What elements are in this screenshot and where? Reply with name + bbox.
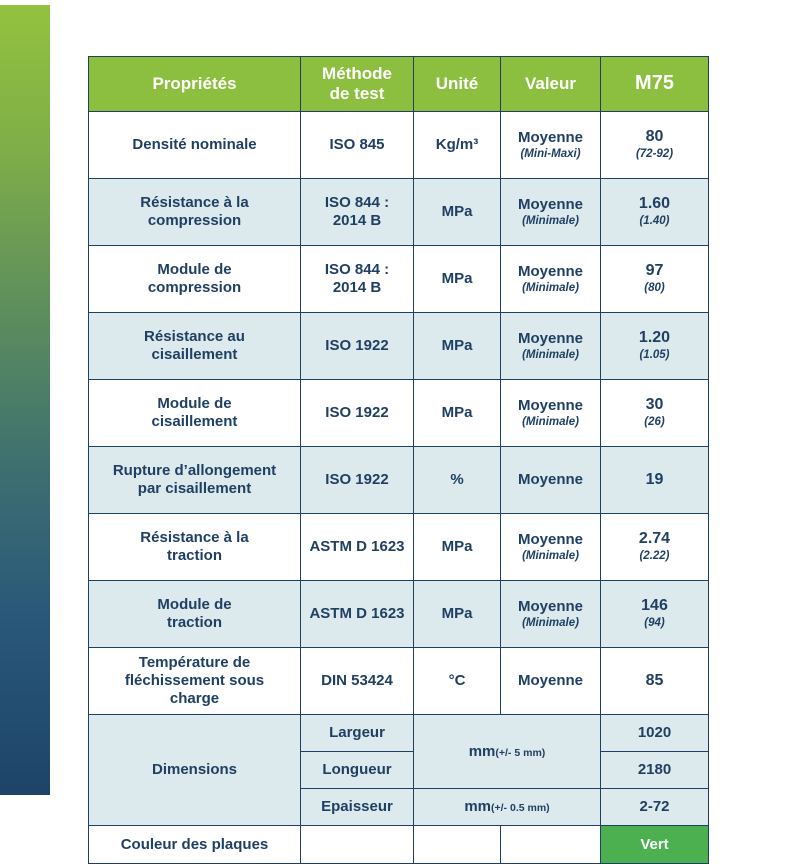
property-line-1: Température de [93, 654, 296, 672]
property-line-1: Module de [93, 395, 296, 413]
cell-unit: MPa [414, 179, 501, 246]
property-line-1: Résistance au [93, 328, 296, 346]
grade-main: 85 [605, 672, 704, 691]
cell-method: ASTM D 1623 [301, 514, 414, 581]
table-row: Module de compression ISO 844 : 2014 B M… [89, 246, 709, 313]
cell-grade: 85 [601, 648, 709, 715]
value-sub: (Mini-Maxi) [505, 148, 596, 162]
property-line-1: Module de [93, 261, 296, 279]
cell-method: ISO 1922 [301, 313, 414, 380]
grade-sub: (2.22) [605, 550, 704, 564]
cell-value: Moyenne [501, 648, 601, 715]
grade-main: 19 [605, 471, 704, 490]
column-header-grade-m75: M75 [601, 57, 709, 112]
cell-value: Moyenne (Minimale) [501, 380, 601, 447]
cell-method: ISO 1922 [301, 380, 414, 447]
grade-main: 1.60 [605, 195, 704, 214]
column-header-value: Valeur [501, 57, 601, 112]
column-header-unit: Unité [414, 57, 501, 112]
grade-sub: (72-92) [605, 148, 704, 162]
unit-tolerance: (+/- 5 mm) [495, 747, 545, 759]
cell-method: ISO 1922 [301, 447, 414, 514]
method-line-1: ASTM D 1623 [305, 538, 409, 556]
column-header-method-line2: de test [305, 84, 409, 104]
column-header-method-line1: Méthode [305, 64, 409, 84]
value-sub: (Minimale) [505, 349, 596, 363]
header-row: Propriétés Méthode de test Unité Valeur … [89, 57, 709, 112]
cell-dimension-value: 1020 [601, 715, 709, 752]
cell-dimension-name: Epaisseur [301, 789, 414, 826]
value-main: Moyenne [505, 471, 596, 489]
cell-value: Moyenne (Minimale) [501, 246, 601, 313]
table-row-colour: Couleur des plaques Vert [89, 826, 709, 864]
cell-colour-label: Couleur des plaques [89, 826, 301, 864]
method-line-1: ISO 845 [305, 136, 409, 154]
table-header: Propriétés Méthode de test Unité Valeur … [89, 57, 709, 112]
cell-value: Moyenne (Mini-Maxi) [501, 112, 601, 179]
table-row: Résistance à la compression ISO 844 : 20… [89, 179, 709, 246]
spec-table-container: Propriétés Méthode de test Unité Valeur … [88, 56, 708, 864]
table-row: Rupture d’allongement par cisaillement I… [89, 447, 709, 514]
property-line-2: fléchissement sous [93, 672, 296, 690]
method-line-1: ISO 844 : [305, 194, 409, 212]
method-line-2: 2014 B [305, 212, 409, 230]
cell-grade: 19 [601, 447, 709, 514]
cell-unit: % [414, 447, 501, 514]
property-line-1: Module de [93, 596, 296, 614]
value-sub: (Minimale) [505, 282, 596, 296]
cell-method: ISO 845 [301, 112, 414, 179]
grade-sub: (1.05) [605, 349, 704, 363]
value-sub: (Minimale) [505, 215, 596, 229]
table-row: Température de fléchissement sous charge… [89, 648, 709, 715]
grade-main: 146 [605, 597, 704, 616]
cell-dimension-name: Longueur [301, 752, 414, 789]
decorative-gradient-bar [0, 5, 50, 795]
table-row: Densité nominale ISO 845 Kg/m³ Moyenne (… [89, 112, 709, 179]
cell-method: ISO 844 : 2014 B [301, 179, 414, 246]
property-line-1: Densité nominale [93, 136, 296, 154]
cell-dimensions-label: Dimensions [89, 715, 301, 826]
property-line-1: Résistance à la [93, 529, 296, 547]
cell-grade: 1.20 (1.05) [601, 313, 709, 380]
cell-grade: 80 (72-92) [601, 112, 709, 179]
method-line-1: ISO 1922 [305, 404, 409, 422]
table-row: Module de cisaillement ISO 1922 MPa Moye… [89, 380, 709, 447]
value-sub: (Minimale) [505, 550, 596, 564]
cell-property: Résistance au cisaillement [89, 313, 301, 380]
method-line-1: ASTM D 1623 [305, 605, 409, 623]
property-line-1: Résistance à la [93, 194, 296, 212]
method-line-2: 2014 B [305, 279, 409, 297]
grade-sub: (26) [605, 416, 704, 430]
cell-property: Température de fléchissement sous charge [89, 648, 301, 715]
value-main: Moyenne [505, 531, 596, 549]
value-main: Moyenne [505, 672, 596, 690]
cell-dimension-value: 2-72 [601, 789, 709, 826]
cell-value: Moyenne (Minimale) [501, 179, 601, 246]
cell-value: Moyenne [501, 447, 601, 514]
property-line-2: traction [93, 547, 296, 565]
grade-main: 30 [605, 396, 704, 415]
table-row: Module de traction ASTM D 1623 MPa Moyen… [89, 581, 709, 648]
cell-property: Module de compression [89, 246, 301, 313]
cell-empty-value [501, 826, 601, 864]
cell-method: ISO 844 : 2014 B [301, 246, 414, 313]
cell-colour-swatch: Vert [601, 826, 709, 864]
cell-unit: MPa [414, 246, 501, 313]
grade-main: 97 [605, 262, 704, 281]
cell-method: DIN 53424 [301, 648, 414, 715]
cell-property: Résistance à la traction [89, 514, 301, 581]
unit-main: mm [464, 798, 491, 815]
value-sub: (Minimale) [505, 617, 596, 631]
cell-grade: 30 (26) [601, 380, 709, 447]
cell-dimension-unit-thickness: mm(+/- 0.5 mm) [414, 789, 601, 826]
method-line-1: DIN 53424 [305, 672, 409, 690]
grade-sub: (1.40) [605, 215, 704, 229]
cell-property: Rupture d’allongement par cisaillement [89, 447, 301, 514]
grade-main: 80 [605, 128, 704, 147]
column-header-properties: Propriétés [89, 57, 301, 112]
table-row: Résistance au cisaillement ISO 1922 MPa … [89, 313, 709, 380]
cell-empty-unit [414, 826, 501, 864]
property-line-2: traction [93, 614, 296, 632]
technical-specification-table: Propriétés Méthode de test Unité Valeur … [88, 56, 709, 864]
cell-unit: MPa [414, 514, 501, 581]
cell-property: Module de cisaillement [89, 380, 301, 447]
cell-dimension-name: Largeur [301, 715, 414, 752]
table-row-dimensions-largeur: Dimensions Largeur mm(+/- 5 mm) 1020 [89, 715, 709, 752]
cell-unit: °C [414, 648, 501, 715]
cell-dimension-value: 2180 [601, 752, 709, 789]
value-main: Moyenne [505, 397, 596, 415]
property-line-2: par cisaillement [93, 480, 296, 498]
method-line-1: ISO 1922 [305, 471, 409, 489]
grade-sub: (80) [605, 282, 704, 296]
property-line-2: compression [93, 212, 296, 230]
cell-property: Résistance à la compression [89, 179, 301, 246]
cell-empty-method [301, 826, 414, 864]
cell-grade: 146 (94) [601, 581, 709, 648]
cell-value: Moyenne (Minimale) [501, 313, 601, 380]
cell-method: ASTM D 1623 [301, 581, 414, 648]
column-header-method: Méthode de test [301, 57, 414, 112]
cell-dimension-unit-wide: mm(+/- 5 mm) [414, 715, 601, 789]
property-line-2: cisaillement [93, 413, 296, 431]
grade-sub: (94) [605, 617, 704, 631]
cell-grade: 2.74 (2.22) [601, 514, 709, 581]
value-main: Moyenne [505, 196, 596, 214]
property-line-2: cisaillement [93, 346, 296, 364]
cell-property: Module de traction [89, 581, 301, 648]
grade-main: 1.20 [605, 329, 704, 348]
cell-grade: 1.60 (1.40) [601, 179, 709, 246]
cell-property: Densité nominale [89, 112, 301, 179]
value-main: Moyenne [505, 263, 596, 281]
method-line-1: ISO 844 : [305, 261, 409, 279]
cell-grade: 97 (80) [601, 246, 709, 313]
cell-unit: Kg/m³ [414, 112, 501, 179]
cell-unit: MPa [414, 581, 501, 648]
unit-main: mm [469, 743, 496, 760]
value-main: Moyenne [505, 598, 596, 616]
cell-value: Moyenne (Minimale) [501, 581, 601, 648]
grade-main: 2.74 [605, 530, 704, 549]
value-main: Moyenne [505, 129, 596, 147]
value-sub: (Minimale) [505, 416, 596, 430]
unit-tolerance: (+/- 0.5 mm) [491, 802, 550, 814]
property-line-1: Rupture d’allongement [93, 462, 296, 480]
table-row: Résistance à la traction ASTM D 1623 MPa… [89, 514, 709, 581]
cell-unit: MPa [414, 380, 501, 447]
table-body: Densité nominale ISO 845 Kg/m³ Moyenne (… [89, 112, 709, 864]
method-line-1: ISO 1922 [305, 337, 409, 355]
property-line-3: charge [93, 690, 296, 708]
property-line-2: compression [93, 279, 296, 297]
value-main: Moyenne [505, 330, 596, 348]
cell-unit: MPa [414, 313, 501, 380]
cell-value: Moyenne (Minimale) [501, 514, 601, 581]
